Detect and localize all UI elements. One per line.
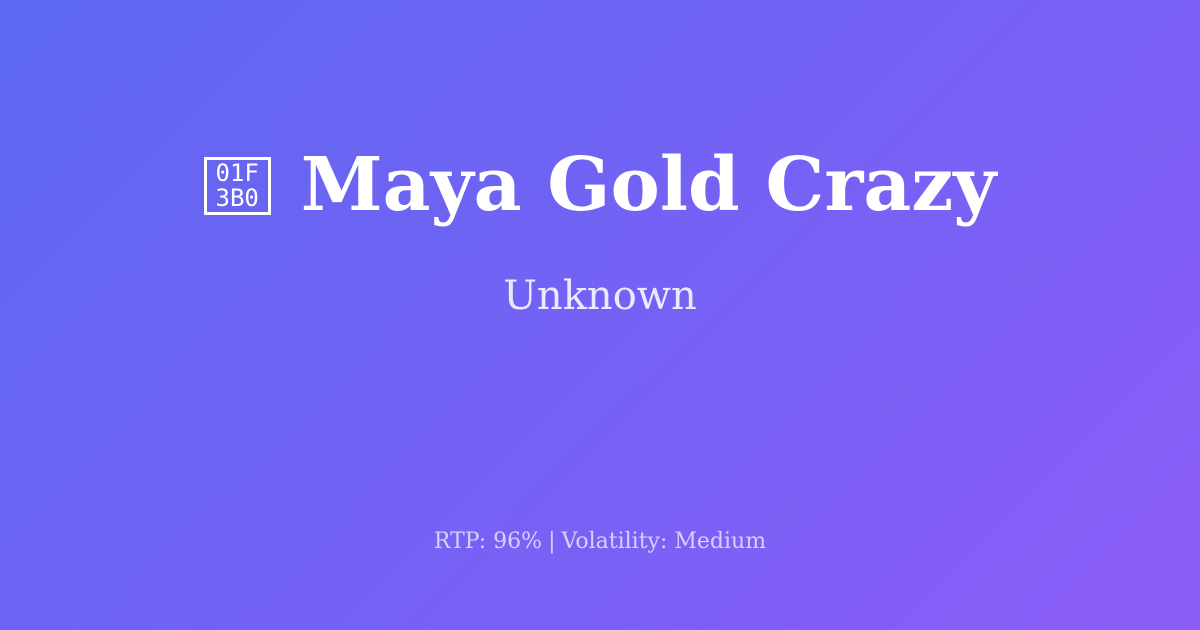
page-title: 01F 3B0 Maya Gold Crazy — [204, 146, 997, 226]
game-meta: RTP: 96%|Volatility: Medium — [0, 528, 1200, 556]
meta-separator: | — [542, 529, 561, 554]
tofu-codepoint-bottom: 3B0 — [216, 186, 259, 211]
game-title-text: Maya Gold Crazy — [301, 146, 997, 226]
game-provider: Unknown — [503, 272, 697, 320]
game-og-card: 01F 3B0 Maya Gold Crazy Unknown RTP: 96%… — [0, 0, 1200, 630]
title-block: 01F 3B0 Maya Gold Crazy Unknown — [0, 0, 1200, 466]
tofu-codepoint-top: 01F — [216, 161, 259, 186]
volatility-value: Volatility: Medium — [562, 529, 767, 554]
slot-machine-icon: 01F 3B0 — [204, 157, 271, 215]
rtp-value: RTP: 96% — [434, 529, 542, 554]
